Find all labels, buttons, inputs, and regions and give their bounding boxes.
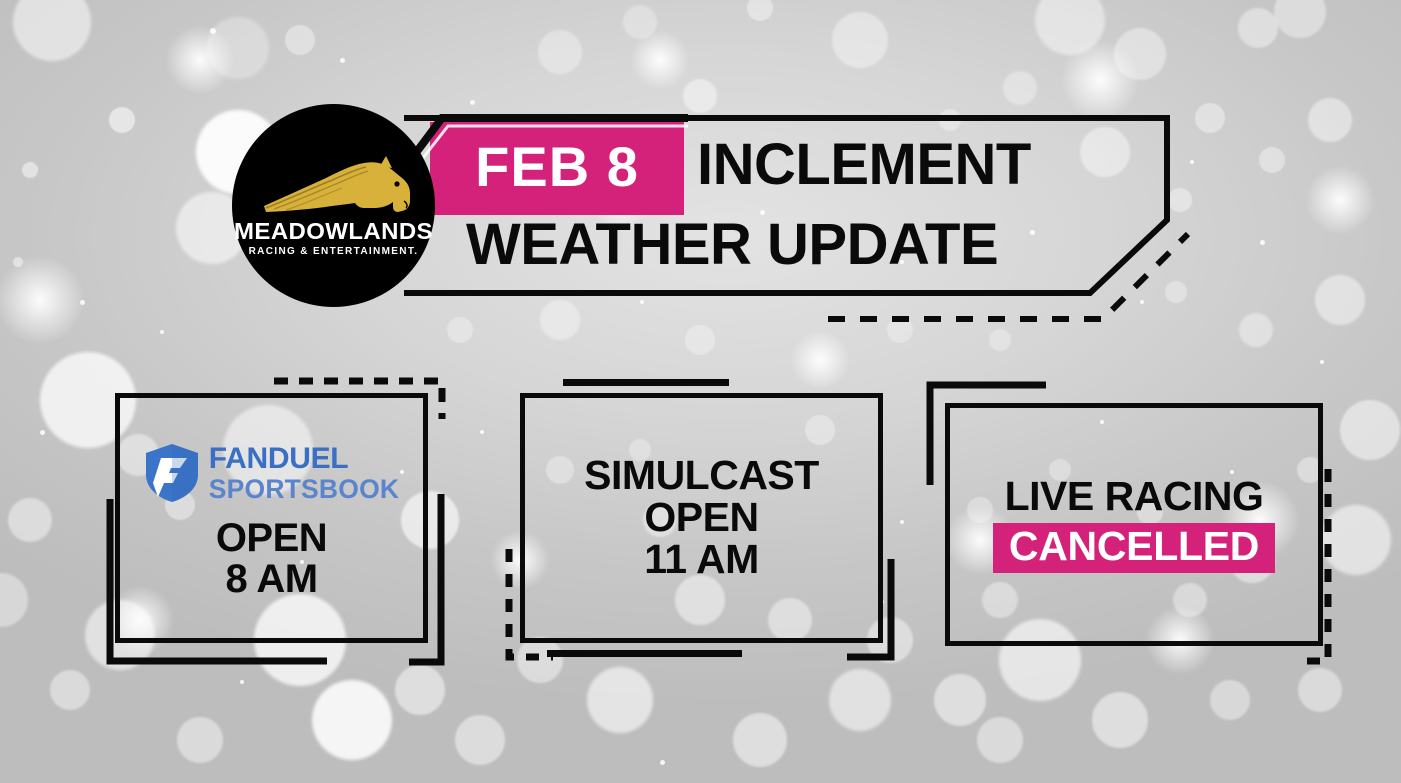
bokeh-circle <box>934 674 986 726</box>
fanduel-logo: FANDUEL SPORTSBOOK <box>144 442 399 504</box>
simulcast-card-box: SIMULCAST OPEN 11 AM <box>520 393 883 643</box>
fanduel-status: OPEN <box>216 518 327 559</box>
live-racing-status-badge: CANCELLED <box>993 523 1275 573</box>
bokeh-circle <box>455 715 505 765</box>
deco-line-top <box>563 379 729 386</box>
card-fanduel-sportsbook: FANDUEL SPORTSBOOK OPEN 8 AM <box>110 375 450 670</box>
bokeh-circle <box>1340 400 1400 460</box>
fanduel-card-box: FANDUEL SPORTSBOOK OPEN 8 AM <box>115 393 428 643</box>
bokeh-circle <box>177 717 223 763</box>
bokeh-circle <box>1092 692 1148 748</box>
bokeh-circle <box>8 498 52 542</box>
bokeh-circle <box>1315 275 1365 325</box>
bokeh-circle <box>587 667 653 733</box>
deco-line-bottom <box>547 650 742 657</box>
bokeh-speck <box>1320 360 1324 364</box>
bokeh-glow <box>1305 165 1375 235</box>
simulcast-heading: SIMULCAST <box>584 455 819 497</box>
fanduel-shield-icon <box>144 442 200 504</box>
meadowlands-logo: MEADOWLANDS RACING & ENTERTAINMENT. <box>232 104 435 307</box>
bokeh-circle <box>395 665 445 715</box>
bokeh-speck <box>240 680 244 684</box>
banner-angle-accent <box>398 104 708 174</box>
header-banner: MEADOWLANDS RACING & ENTERTAINMENT. FEB … <box>0 0 1250 340</box>
live-racing-card-box: LIVE RACING CANCELLED <box>945 403 1323 646</box>
bokeh-circle <box>50 670 90 710</box>
bokeh-circle <box>733 713 787 767</box>
bokeh-circle <box>829 669 891 731</box>
fanduel-time: 8 AM <box>225 559 317 600</box>
fanduel-wordmark-secondary: SPORTSBOOK <box>209 476 399 503</box>
logo-tagline: RACING & ENTERTAINMENT. <box>249 247 419 257</box>
bokeh-speck <box>1260 240 1265 245</box>
title-line-1: INCLEMENT <box>697 136 1031 194</box>
title-line-2: WEATHER UPDATE <box>466 216 998 274</box>
bokeh-circle <box>977 717 1023 763</box>
bokeh-circle <box>1210 680 1250 720</box>
bokeh-circle <box>0 573 28 627</box>
logo-wordmark: MEADOWLANDS <box>234 220 433 244</box>
bokeh-circle <box>1298 668 1342 712</box>
simulcast-status: OPEN <box>644 497 758 539</box>
bokeh-circle <box>312 680 392 760</box>
fanduel-wordmark-primary: FANDUEL <box>209 444 399 474</box>
card-live-racing: LIVE RACING CANCELLED <box>920 375 1340 670</box>
bokeh-circle <box>1274 0 1326 38</box>
live-racing-heading: LIVE RACING <box>1005 476 1264 518</box>
horse-head-icon <box>252 154 422 224</box>
bokeh-speck <box>660 760 665 765</box>
bokeh-circle <box>1308 98 1352 142</box>
bokeh-speck <box>480 430 484 434</box>
weather-update-graphic: MEADOWLANDS RACING & ENTERTAINMENT. FEB … <box>0 0 1401 783</box>
simulcast-time: 11 AM <box>644 539 758 581</box>
card-simulcast: SIMULCAST OPEN 11 AM <box>505 375 905 670</box>
bokeh-speck <box>40 430 45 435</box>
bokeh-circle <box>1259 147 1285 173</box>
